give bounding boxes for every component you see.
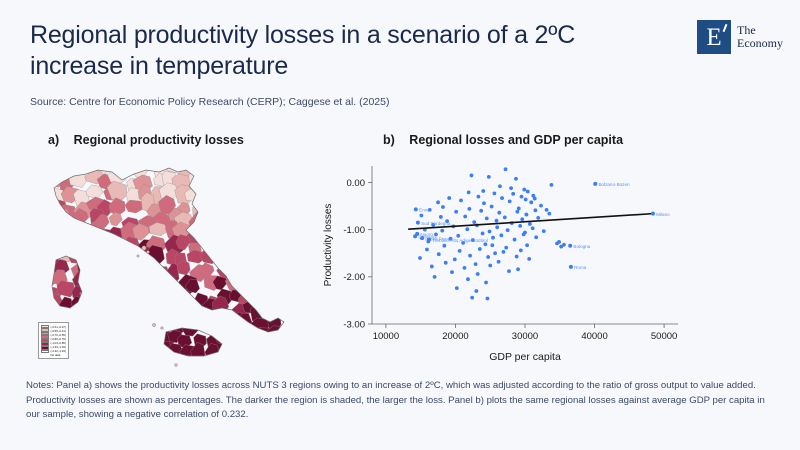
scatter-point	[506, 228, 510, 232]
map-region	[240, 278, 259, 297]
scatter-point	[520, 195, 524, 199]
logo-line-economy: Economy	[737, 37, 783, 50]
scatter-point	[487, 175, 491, 179]
panel-b-heading: b) Regional losses and GDP per capita	[383, 133, 623, 147]
scatter-point	[497, 260, 501, 264]
scatter-point	[467, 191, 471, 195]
map-region	[109, 212, 123, 226]
scatter-point	[529, 200, 533, 204]
panel-b-title: Regional losses and GDP per capita	[409, 133, 623, 147]
map-region	[208, 172, 229, 190]
map-region	[269, 276, 289, 293]
scatter-point	[470, 174, 474, 178]
map-region	[34, 251, 52, 264]
map-region	[115, 275, 133, 294]
map-region	[240, 160, 254, 162]
map-region	[42, 305, 59, 324]
map-region	[162, 301, 182, 318]
map-region	[82, 271, 95, 285]
map-region	[113, 244, 128, 258]
scatter-point	[513, 238, 517, 242]
map-region	[87, 276, 105, 296]
source-line: Source: Centre for Economic Policy Resea…	[30, 96, 390, 108]
map-region	[157, 311, 171, 324]
scatter-point	[482, 201, 486, 205]
x-axis-label: GDP per capita	[489, 351, 561, 363]
map-region	[277, 232, 292, 250]
scatter-plot-panel: 0.00-1.00-2.00-3.00100002000030000400005…	[320, 158, 688, 366]
map-region	[95, 298, 110, 316]
y-tick-label: -3.00	[343, 319, 365, 330]
map-island	[147, 251, 150, 254]
scatter-point	[518, 224, 522, 228]
map-region	[100, 235, 114, 254]
map-region	[160, 359, 174, 372]
brand-logo: E The Economy	[697, 20, 783, 54]
scatter-point-labeled	[420, 236, 424, 240]
map-region	[40, 160, 60, 178]
scatter-point	[542, 229, 546, 233]
logo-tick-icon	[723, 24, 728, 32]
map-region	[214, 318, 232, 335]
scatter-point	[493, 191, 497, 195]
map-region	[171, 289, 192, 303]
map-region	[195, 317, 212, 331]
map-region	[29, 295, 49, 309]
scatter-point	[527, 257, 531, 261]
map-region	[145, 344, 162, 356]
map-region	[252, 238, 266, 258]
scatter-point	[519, 249, 523, 253]
map-region	[181, 355, 197, 372]
scatter-point	[463, 215, 467, 219]
map-region	[137, 301, 157, 318]
y-axis-label: Productivity losses	[323, 204, 334, 287]
map-region	[176, 305, 195, 319]
scatter-point	[504, 246, 508, 250]
map-region	[70, 160, 88, 168]
scatter-point	[491, 236, 495, 240]
map-region	[114, 300, 130, 317]
scatter-point-label: Sud Sardegna	[421, 221, 451, 226]
scatter-point	[522, 188, 526, 192]
scatter-point	[531, 226, 535, 230]
scatter-point	[442, 244, 446, 248]
map-canvas	[26, 160, 316, 372]
map-region	[120, 256, 139, 270]
scatter-point	[516, 267, 520, 271]
panel-a-title: Regional productivity losses	[74, 133, 244, 147]
map-region	[31, 237, 45, 250]
scatter-point	[511, 192, 515, 196]
map-region	[279, 192, 294, 213]
map-region	[112, 312, 127, 332]
scatter-point	[550, 183, 554, 187]
map-region	[55, 162, 74, 177]
map-region	[218, 160, 231, 176]
map-region	[285, 161, 300, 177]
scatter-point-labeled	[416, 221, 420, 225]
map-region	[241, 186, 259, 203]
map-region	[255, 294, 270, 310]
map-region	[238, 210, 254, 224]
map-region	[132, 292, 154, 312]
scatter-point	[509, 186, 513, 190]
map-region	[76, 160, 92, 173]
map-region	[217, 247, 236, 265]
slide-root: Regional productivity losses in a scenar…	[0, 0, 800, 450]
scatter-point	[515, 210, 519, 214]
scatter-point	[444, 261, 448, 265]
map-region	[107, 289, 125, 307]
scatter-point-labeled	[651, 212, 655, 216]
map-region	[83, 251, 99, 267]
map-region	[158, 287, 178, 304]
scatter-point	[539, 204, 543, 208]
map-region	[136, 280, 156, 297]
map-region	[30, 286, 45, 303]
map-region	[32, 160, 49, 164]
scatter-point	[500, 196, 504, 200]
scatter-point	[490, 243, 494, 247]
scatter-point	[458, 249, 462, 253]
scatter-point-labeled	[568, 244, 572, 248]
map-region	[133, 259, 153, 277]
map-region	[220, 211, 234, 226]
scatter-point	[515, 255, 519, 259]
scatter-point	[504, 167, 508, 171]
map-island	[142, 246, 146, 250]
map-region	[282, 171, 295, 186]
map-region	[83, 290, 101, 310]
scatter-point	[479, 209, 483, 213]
map-region	[151, 266, 171, 279]
map-region	[195, 226, 216, 243]
map-region	[228, 199, 242, 220]
map-region	[99, 160, 114, 162]
map-region	[81, 238, 98, 253]
map-region	[242, 227, 261, 243]
map-region	[249, 275, 267, 292]
map-region	[215, 331, 232, 345]
map-region	[69, 312, 89, 328]
map-region	[116, 268, 131, 285]
map-region	[191, 342, 206, 361]
map-region	[192, 160, 209, 162]
scatter-point	[493, 251, 497, 255]
map-region	[142, 329, 161, 349]
map-region	[242, 263, 262, 283]
map-region	[283, 255, 299, 269]
scatter-point	[474, 262, 478, 266]
map-region	[269, 160, 286, 173]
economy-logo-mark: E	[697, 20, 731, 54]
scatter-point	[533, 197, 537, 201]
map-region	[219, 234, 235, 252]
map-region	[122, 263, 136, 282]
map-region-group	[142, 303, 232, 372]
map-region	[277, 331, 290, 347]
map-region	[196, 215, 215, 230]
map-region	[129, 160, 144, 172]
scatter-point	[485, 216, 489, 220]
map-region	[158, 160, 177, 162]
map-region	[112, 160, 133, 172]
map-region	[34, 203, 54, 218]
scatter-point	[524, 213, 528, 217]
map-region	[279, 302, 297, 319]
x-tick-label: 10000	[373, 331, 399, 342]
map-region	[116, 252, 131, 267]
scatter-point	[467, 207, 471, 211]
map-region	[199, 361, 216, 372]
map-region	[198, 184, 215, 201]
map-region	[217, 193, 234, 213]
scatter-point	[488, 230, 492, 234]
map-region	[146, 273, 166, 290]
map-region	[28, 228, 48, 245]
map-region	[98, 278, 112, 297]
map-region	[189, 304, 204, 325]
map-legend-swatches	[41, 325, 49, 357]
scatter-point	[481, 232, 485, 236]
map-legend: (-0.41,-0.27](-0.55,-0.41](-0.70,-0.55](…	[38, 322, 69, 359]
map-region	[100, 332, 117, 348]
map-region	[32, 160, 48, 179]
map-region	[43, 230, 61, 245]
map-region	[203, 319, 217, 335]
map-region	[253, 212, 273, 227]
scatter-point	[517, 207, 521, 211]
x-tick-label: 20000	[442, 331, 468, 342]
scatter-point	[486, 297, 490, 301]
scatter-point	[507, 269, 511, 273]
map-region	[210, 316, 228, 334]
map-region	[265, 234, 286, 253]
map-region	[194, 312, 212, 324]
map-region	[35, 174, 48, 192]
map-region	[211, 228, 231, 244]
map-region	[123, 302, 143, 320]
map-region	[209, 319, 223, 334]
scatter-point	[478, 247, 482, 251]
map-legend-labels: (-0.41,-0.27](-0.55,-0.41](-0.70,-0.55](…	[51, 325, 66, 357]
map-region	[231, 224, 246, 243]
scatter-point-labeled	[569, 265, 573, 269]
map-region	[115, 160, 129, 165]
map-region	[280, 215, 295, 234]
map-region	[265, 251, 285, 267]
scatter-point	[441, 205, 445, 209]
map-region	[247, 202, 260, 217]
map-region	[43, 211, 57, 226]
map-region	[33, 301, 49, 317]
map-region	[156, 316, 172, 333]
map-region	[43, 236, 62, 253]
map-region	[140, 325, 157, 345]
map-region	[213, 357, 231, 370]
map-region	[243, 160, 258, 174]
map-region	[100, 315, 119, 331]
map-region	[121, 280, 139, 298]
map-region	[218, 160, 236, 166]
map-region	[28, 281, 43, 296]
map-region	[255, 260, 269, 275]
y-tick-label: 0.00	[347, 178, 366, 189]
map-region	[242, 324, 257, 344]
map-region	[280, 221, 295, 240]
map-region	[191, 160, 211, 171]
map-region	[189, 169, 204, 190]
map-island	[152, 323, 155, 326]
map-region	[81, 320, 97, 337]
scatter-point	[425, 248, 429, 252]
scatter-point-label: Bolzano-Bozen	[598, 182, 630, 187]
map-region	[74, 316, 91, 331]
map-region	[269, 193, 283, 213]
map-region	[228, 236, 248, 256]
map-region	[252, 160, 270, 173]
map-region	[98, 264, 115, 281]
scatter-point	[547, 212, 551, 216]
y-tick-label: -1.00	[343, 225, 365, 236]
map-region	[109, 326, 125, 341]
legend-swatch	[41, 350, 49, 354]
scatter-point	[522, 232, 526, 236]
map-region	[28, 257, 46, 271]
scatter-point	[514, 177, 518, 181]
map-region	[225, 271, 246, 292]
scatter-point	[483, 242, 487, 246]
scatter-point	[447, 196, 451, 200]
scatter-point	[466, 277, 470, 281]
map-region	[240, 170, 255, 186]
map-region	[224, 213, 245, 230]
map-region	[255, 191, 272, 207]
logo-wordmark: The Economy	[737, 24, 783, 50]
legend-label: No data	[51, 353, 66, 357]
map-region	[69, 169, 87, 188]
scatter-point	[440, 229, 444, 233]
map-region	[152, 305, 170, 322]
map-region	[63, 160, 80, 165]
scatter-point	[476, 272, 480, 276]
map-region	[253, 171, 271, 186]
x-tick-label: 50000	[651, 331, 677, 342]
y-tick-label: -2.00	[343, 272, 365, 283]
scatter-point	[502, 250, 506, 254]
map-region	[80, 160, 101, 166]
map-region	[227, 160, 245, 172]
scatter-point	[499, 233, 503, 237]
map-region	[204, 309, 217, 323]
scatter-point	[439, 215, 443, 219]
map-region	[227, 324, 245, 342]
scatter-point	[450, 270, 454, 274]
map-region	[251, 201, 267, 219]
scatter-point	[455, 286, 459, 290]
x-tick-label: 40000	[581, 331, 607, 342]
map-region	[80, 297, 93, 315]
scatter-point	[490, 205, 494, 209]
map-region	[31, 268, 48, 283]
map-region	[30, 254, 46, 273]
notes-text: Notes: Panel a) shows the productivity l…	[26, 379, 778, 423]
map-region	[96, 293, 116, 311]
scatter-point-labeled	[427, 238, 431, 242]
scatter-point	[497, 211, 501, 215]
panel-b-marker: b)	[383, 133, 395, 147]
map-region	[266, 160, 282, 169]
map-region	[283, 315, 299, 334]
scatter-point-label: Bologna	[573, 244, 590, 249]
map-region	[269, 215, 286, 229]
scatter-point	[436, 200, 440, 204]
map-region	[199, 170, 216, 185]
scatter-point	[418, 256, 422, 260]
map-region	[268, 172, 282, 189]
scatter-point-label: Roma	[574, 265, 587, 270]
scatter-point	[524, 198, 528, 202]
map-region	[279, 263, 298, 283]
map-region	[283, 160, 299, 163]
map-region	[49, 160, 65, 168]
scatter-point	[486, 255, 490, 259]
map-region	[240, 251, 260, 263]
map-region	[63, 233, 82, 250]
scatter-point	[495, 225, 499, 229]
map-region	[147, 308, 160, 322]
map-region	[125, 327, 145, 340]
map-region	[68, 228, 89, 243]
scatter-point	[498, 184, 502, 188]
scatter-point	[562, 243, 566, 247]
map-region	[41, 239, 56, 257]
scatter-point	[484, 281, 488, 285]
map-region	[82, 327, 97, 341]
scatter-point	[454, 210, 458, 214]
map-region	[227, 178, 242, 192]
map-region	[151, 329, 165, 342]
scatter-canvas: 0.00-1.00-2.00-3.00100002000030000400005…	[320, 158, 688, 366]
scatter-point	[472, 220, 476, 224]
map-region	[216, 189, 236, 203]
map-region	[85, 313, 100, 326]
map-region	[32, 310, 45, 322]
map-region	[177, 305, 192, 322]
map-region	[60, 234, 80, 250]
scatter-point	[463, 266, 467, 270]
map-region	[149, 315, 164, 335]
map-region	[84, 307, 102, 324]
panel-a-heading: a) Regional productivity losses	[48, 133, 244, 147]
map-region	[74, 241, 92, 255]
scatter-point	[503, 216, 507, 220]
scatter-point-label: Trentino-Alto Adige/Südtirol	[432, 238, 488, 243]
map-region	[233, 182, 249, 199]
scatter-point	[481, 189, 485, 193]
map-region	[82, 254, 99, 272]
scatter-point	[430, 265, 434, 269]
map-region	[126, 290, 146, 308]
map-region	[259, 229, 272, 242]
map-region	[151, 160, 169, 164]
scatter-point	[488, 264, 492, 268]
scatter-point	[437, 252, 441, 256]
scatter-point	[433, 275, 437, 279]
logo-letter-icon: E	[706, 25, 721, 50]
map-region	[240, 238, 260, 256]
